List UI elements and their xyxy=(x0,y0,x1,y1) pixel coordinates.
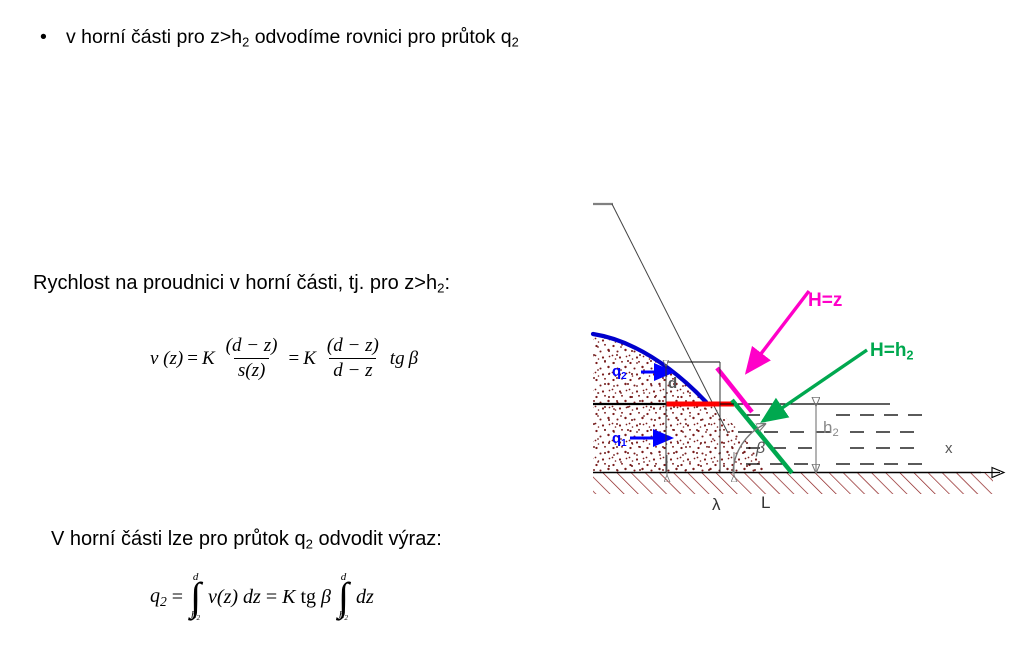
bullet-text: v horní části pro z>h2 odvodíme rovnici … xyxy=(66,24,519,56)
bullet-sub-2: 2 xyxy=(512,35,519,50)
equation-discharge: q2 = d ∫ h2 v(z) dz = K tg β d ∫ h2 dz xyxy=(150,572,374,622)
eq1-lhs: v (z) xyxy=(150,348,183,370)
eq1-fraction-2: (d − z) d − z xyxy=(323,335,383,382)
eq2-int2-lower-sub: 2 xyxy=(344,614,348,622)
eq2-integral-1: d ∫ h2 xyxy=(190,572,201,622)
discharge-heading-sub: 2 xyxy=(306,537,313,552)
velocity-heading: Rychlost na proudnici v horní části, tj.… xyxy=(33,272,450,296)
bullet-marker: • xyxy=(40,24,66,50)
annotation-arrow-h-equals-z xyxy=(747,291,809,372)
eq1-frac1-denominator: s(z) xyxy=(234,358,269,382)
eq2-k: K xyxy=(282,586,295,609)
eq2-equals-1: = xyxy=(172,586,183,609)
eq2-lhs-q: q xyxy=(150,585,160,607)
eq1-frac2-denominator: d − z xyxy=(329,358,376,382)
eq1-tg: tg xyxy=(390,348,405,370)
eq1-k1: K xyxy=(202,348,215,370)
eq2-equals-2: = xyxy=(266,586,277,609)
eq2-tg: tg xyxy=(300,586,316,609)
eq1-frac1-numerator: (d − z) xyxy=(222,335,282,358)
eq2-int2-lower-limit: h2 xyxy=(339,610,348,622)
eq1-equals-2: = xyxy=(289,348,300,370)
soil-wedge-region-speckle2 xyxy=(700,395,765,472)
ground-hatching xyxy=(593,473,993,494)
eq2-lhs: q2 xyxy=(150,585,167,610)
seepage-diagram: H=z H=h2 q2 q1 d h2 β x λ L xyxy=(560,190,1015,520)
eq2-beta: β xyxy=(321,586,331,609)
equation-velocity: v (z) = K (d − z) s(z) = K (d − z) d − z… xyxy=(150,335,418,382)
eq1-frac2-numerator: (d − z) xyxy=(323,335,383,358)
eq2-dz: dz xyxy=(356,586,374,609)
velocity-heading-pre: Rychlost na proudnici v horní části, tj.… xyxy=(33,272,437,294)
velocity-heading-post: : xyxy=(444,272,450,294)
bullet-text-pre: v horní části pro z>h xyxy=(66,26,242,48)
eq2-int2-symbol: ∫ xyxy=(338,581,349,612)
bullet-text-post: odvodíme rovnici pro průtok q xyxy=(249,26,511,48)
eq2-int1-symbol: ∫ xyxy=(190,581,201,612)
eq2-int1-lower-sub: 2 xyxy=(197,614,201,622)
eq1-beta: β xyxy=(409,348,418,370)
eq2-int1-lower-limit: h2 xyxy=(191,610,200,622)
discharge-heading-post: odvodit výraz: xyxy=(313,528,442,550)
eq1-equals-1: = xyxy=(187,348,198,370)
discharge-heading-pre: V horní části lze pro průtok q xyxy=(51,528,306,550)
slide-canvas: • v horní části pro z>h2 odvodíme rovnic… xyxy=(0,0,1015,668)
eq1-fraction-1: (d − z) s(z) xyxy=(222,335,282,382)
eq2-lhs-sub: 2 xyxy=(160,594,167,609)
bullet-line: • v horní části pro z>h2 odvodíme rovnic… xyxy=(40,24,519,56)
eq2-integrand: v(z) dz xyxy=(208,586,261,609)
eq1-k2: K xyxy=(303,348,316,370)
discharge-heading: V horní části lze pro průtok q2 odvodit … xyxy=(51,528,442,552)
annotation-arrow-h-equals-h2 xyxy=(763,350,867,421)
eq2-integral-2: d ∫ h2 xyxy=(338,572,349,622)
